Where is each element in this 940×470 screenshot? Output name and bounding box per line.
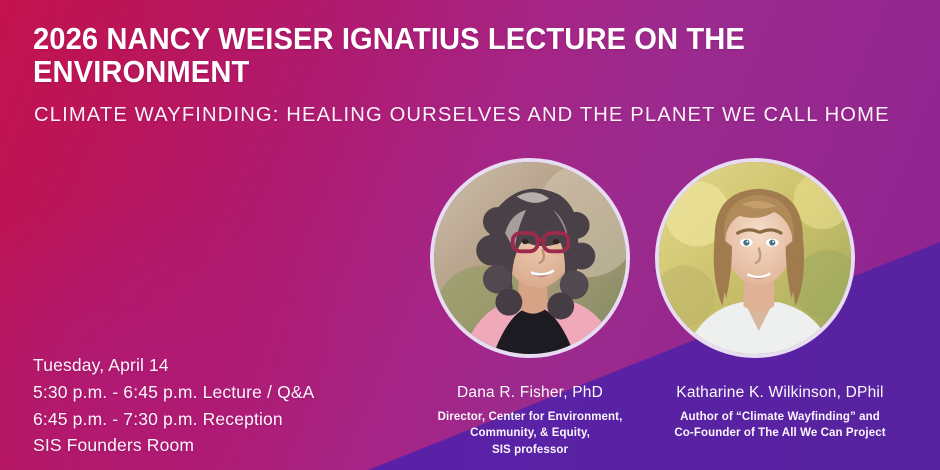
event-date: Tuesday, April 14 xyxy=(33,352,315,379)
page-title: 2026 NANCY WEISER IGNATIUS LECTURE ON TH… xyxy=(33,22,860,89)
speaker-caption-wilkinson: Katharine K. Wilkinson, DPhil Author of … xyxy=(630,384,930,442)
page-subtitle: CLIMATE WAYFINDING: HEALING OURSELVES AN… xyxy=(34,103,900,127)
portrait-dana-fisher xyxy=(430,158,630,358)
speaker-role-line: Community, & Equity, xyxy=(405,425,655,441)
speaker-caption-fisher: Dana R. Fisher, PhD Director, Center for… xyxy=(405,384,655,458)
event-location: SIS Founders Room xyxy=(33,432,315,459)
speaker-role-line: SIS professor xyxy=(405,442,655,458)
speaker-name: Katharine K. Wilkinson, DPhil xyxy=(630,384,930,402)
event-banner: 2026 NANCY WEISER IGNATIUS LECTURE ON TH… xyxy=(0,0,940,470)
event-details: Tuesday, April 14 5:30 p.m. - 6:45 p.m. … xyxy=(33,352,315,459)
event-reception-time: 6:45 p.m. - 7:30 p.m. Reception xyxy=(33,406,315,433)
portrait-katharine-wilkinson xyxy=(655,158,855,358)
speaker-name: Dana R. Fisher, PhD xyxy=(405,384,655,402)
speaker-role-line: Co-Founder of The All We Can Project xyxy=(630,425,930,441)
event-lecture-time: 5:30 p.m. - 6:45 p.m. Lecture / Q&A xyxy=(33,379,315,406)
speaker-role: Director, Center for Environment, Commun… xyxy=(405,409,655,458)
speaker-role-line: Director, Center for Environment, xyxy=(405,409,655,425)
heading-block: 2026 NANCY WEISER IGNATIUS LECTURE ON TH… xyxy=(33,22,913,127)
speaker-role: Author of “Climate Wayfinding” and Co-Fo… xyxy=(630,409,930,442)
speaker-role-line: Author of “Climate Wayfinding” and xyxy=(630,409,930,425)
